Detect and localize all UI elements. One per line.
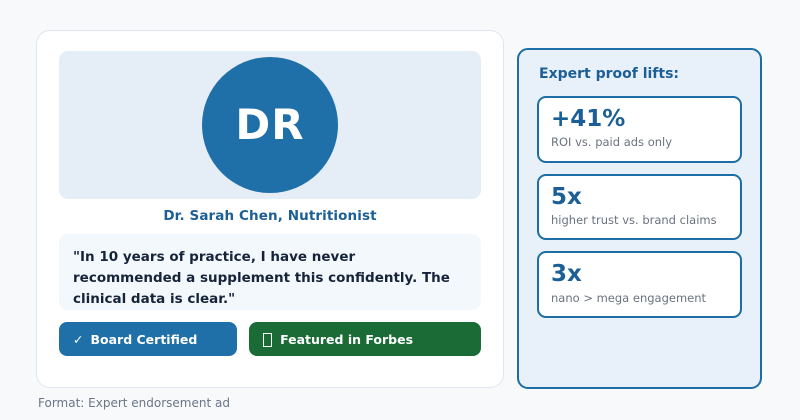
preview-stage: DR Dr. Sarah Chen, Nutritionist "In 10 y…: [0, 0, 800, 420]
stat-value: 5x: [551, 185, 728, 210]
quote-box: "In 10 years of practice, I have never r…: [59, 234, 481, 310]
expert-name: Dr. Sarah Chen, Nutritionist: [59, 208, 481, 224]
stat-card-roi: +41% ROI vs. paid ads only: [537, 96, 742, 163]
badge-featured-in-forbes[interactable]: Featured in Forbes: [249, 322, 481, 356]
stat-value: +41%: [551, 107, 728, 132]
stat-value: 3x: [551, 262, 728, 287]
format-caption: Format: Expert endorsement ad: [38, 396, 230, 410]
avatar: DR: [202, 57, 338, 193]
missing-glyph-icon: [263, 333, 272, 347]
stat-label: higher trust vs. brand claims: [551, 213, 728, 227]
quote-text: "In 10 years of practice, I have never r…: [73, 247, 467, 310]
stat-label: nano > mega engagement: [551, 291, 728, 305]
badge-board-certified[interactable]: ✓ Board Certified: [59, 322, 237, 356]
badge-featured-in-forbes-label: Featured in Forbes: [280, 332, 413, 347]
check-icon: ✓: [73, 332, 83, 347]
stat-label: ROI vs. paid ads only: [551, 135, 728, 149]
badge-row: ✓ Board Certified Featured in Forbes: [59, 322, 481, 356]
ad-creative-card: DR Dr. Sarah Chen, Nutritionist "In 10 y…: [36, 30, 504, 388]
stat-card-engagement: 3x nano > mega engagement: [537, 251, 742, 318]
stat-list: +41% ROI vs. paid ads only 5x higher tru…: [537, 96, 742, 318]
avatar-initials: DR: [235, 104, 304, 146]
proof-panel: Expert proof lifts: +41% ROI vs. paid ad…: [517, 48, 762, 389]
avatar-band: DR: [59, 51, 481, 199]
proof-panel-title: Expert proof lifts:: [539, 66, 742, 82]
stat-card-trust: 5x higher trust vs. brand claims: [537, 174, 742, 241]
badge-board-certified-label: Board Certified: [90, 332, 197, 347]
